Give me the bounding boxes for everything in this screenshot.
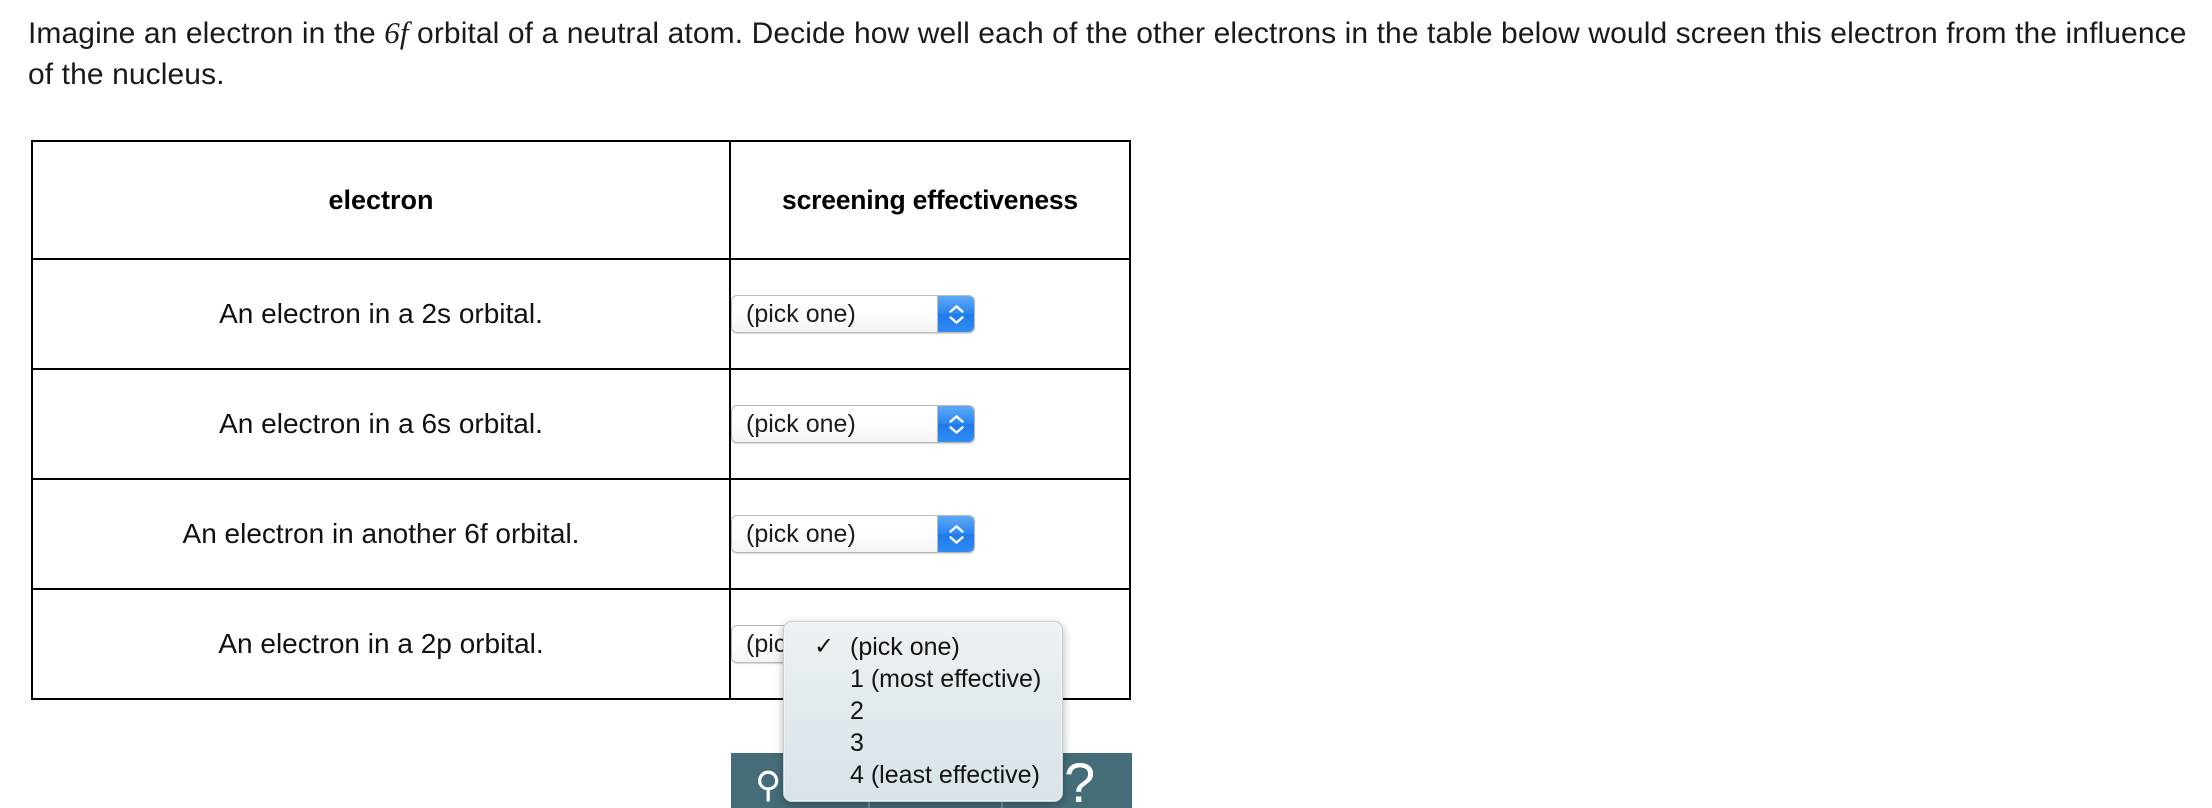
electron-label-3: An electron in another 6f orbital. — [32, 479, 730, 589]
electron-label-1: An electron in a 2s orbital. — [32, 259, 730, 369]
menu-item-4[interactable]: 4 (least effective) — [784, 759, 1062, 791]
electron-label-4: An electron in a 2p orbital. — [32, 589, 730, 699]
electron-label-2: An electron in a 6s orbital. — [32, 369, 730, 479]
table-row: An electron in a 2s orbital. (pick one) — [32, 259, 1130, 369]
magnifier-icon[interactable]: ⚲ — [755, 767, 781, 803]
help-icon[interactable]: ? — [1064, 755, 1095, 808]
menu-item-label: (pick one) — [850, 633, 960, 661]
column-header-electron: electron — [32, 141, 730, 259]
column-header-screening-effectiveness: screening effectiveness — [730, 141, 1130, 259]
screening-select-value-3: (pick one) — [732, 516, 937, 552]
menu-item-2[interactable]: 2 — [784, 695, 1062, 727]
table-row: An electron in a 6s orbital. (pick one) — [32, 369, 1130, 479]
menu-item-1[interactable]: 1 (most effective) — [784, 663, 1062, 695]
chevron-down-icon — [949, 316, 964, 324]
screening-select-3[interactable]: (pick one) — [731, 515, 975, 553]
screening-cell-1: (pick one) — [730, 259, 1130, 369]
chevron-up-icon — [949, 305, 964, 313]
chevron-up-icon — [949, 415, 964, 423]
screening-dropdown-menu[interactable]: ✓ (pick one) 1 (most effective) 2 3 4 (l… — [783, 621, 1063, 802]
check-icon: ✓ — [814, 631, 834, 663]
chevron-down-icon — [949, 426, 964, 434]
screening-select-value-1: (pick one) — [732, 296, 937, 332]
menu-item-label: 4 (least effective) — [850, 761, 1040, 789]
screening-select-2[interactable]: (pick one) — [731, 405, 975, 443]
stepper-button-2[interactable] — [937, 406, 974, 442]
prompt-text-before: Imagine an electron in the — [28, 17, 384, 50]
screening-select-value-2: (pick one) — [732, 406, 937, 442]
orbital-label: 6f — [384, 15, 408, 50]
stepper-button-3[interactable] — [937, 516, 974, 552]
table-header-row: electron screening effectiveness — [32, 141, 1130, 259]
screening-table: electron screening effectiveness An elec… — [31, 140, 1131, 700]
menu-item-pick-one[interactable]: ✓ (pick one) — [784, 631, 1062, 663]
menu-item-label: 3 — [850, 729, 864, 757]
screening-cell-2: (pick one) — [730, 369, 1130, 479]
question-prompt: Imagine an electron in the 6f orbital of… — [28, 12, 2208, 95]
menu-item-3[interactable]: 3 — [784, 727, 1062, 759]
stepper-button-1[interactable] — [937, 296, 974, 332]
table-row: An electron in another 6f orbital. (pick… — [32, 479, 1130, 589]
chevron-up-icon — [949, 525, 964, 533]
screening-select-1[interactable]: (pick one) — [731, 295, 975, 333]
screening-cell-3: (pick one) — [730, 479, 1130, 589]
chevron-down-icon — [949, 536, 964, 544]
menu-item-label: 1 (most effective) — [850, 665, 1041, 693]
menu-item-label: 2 — [850, 697, 864, 725]
